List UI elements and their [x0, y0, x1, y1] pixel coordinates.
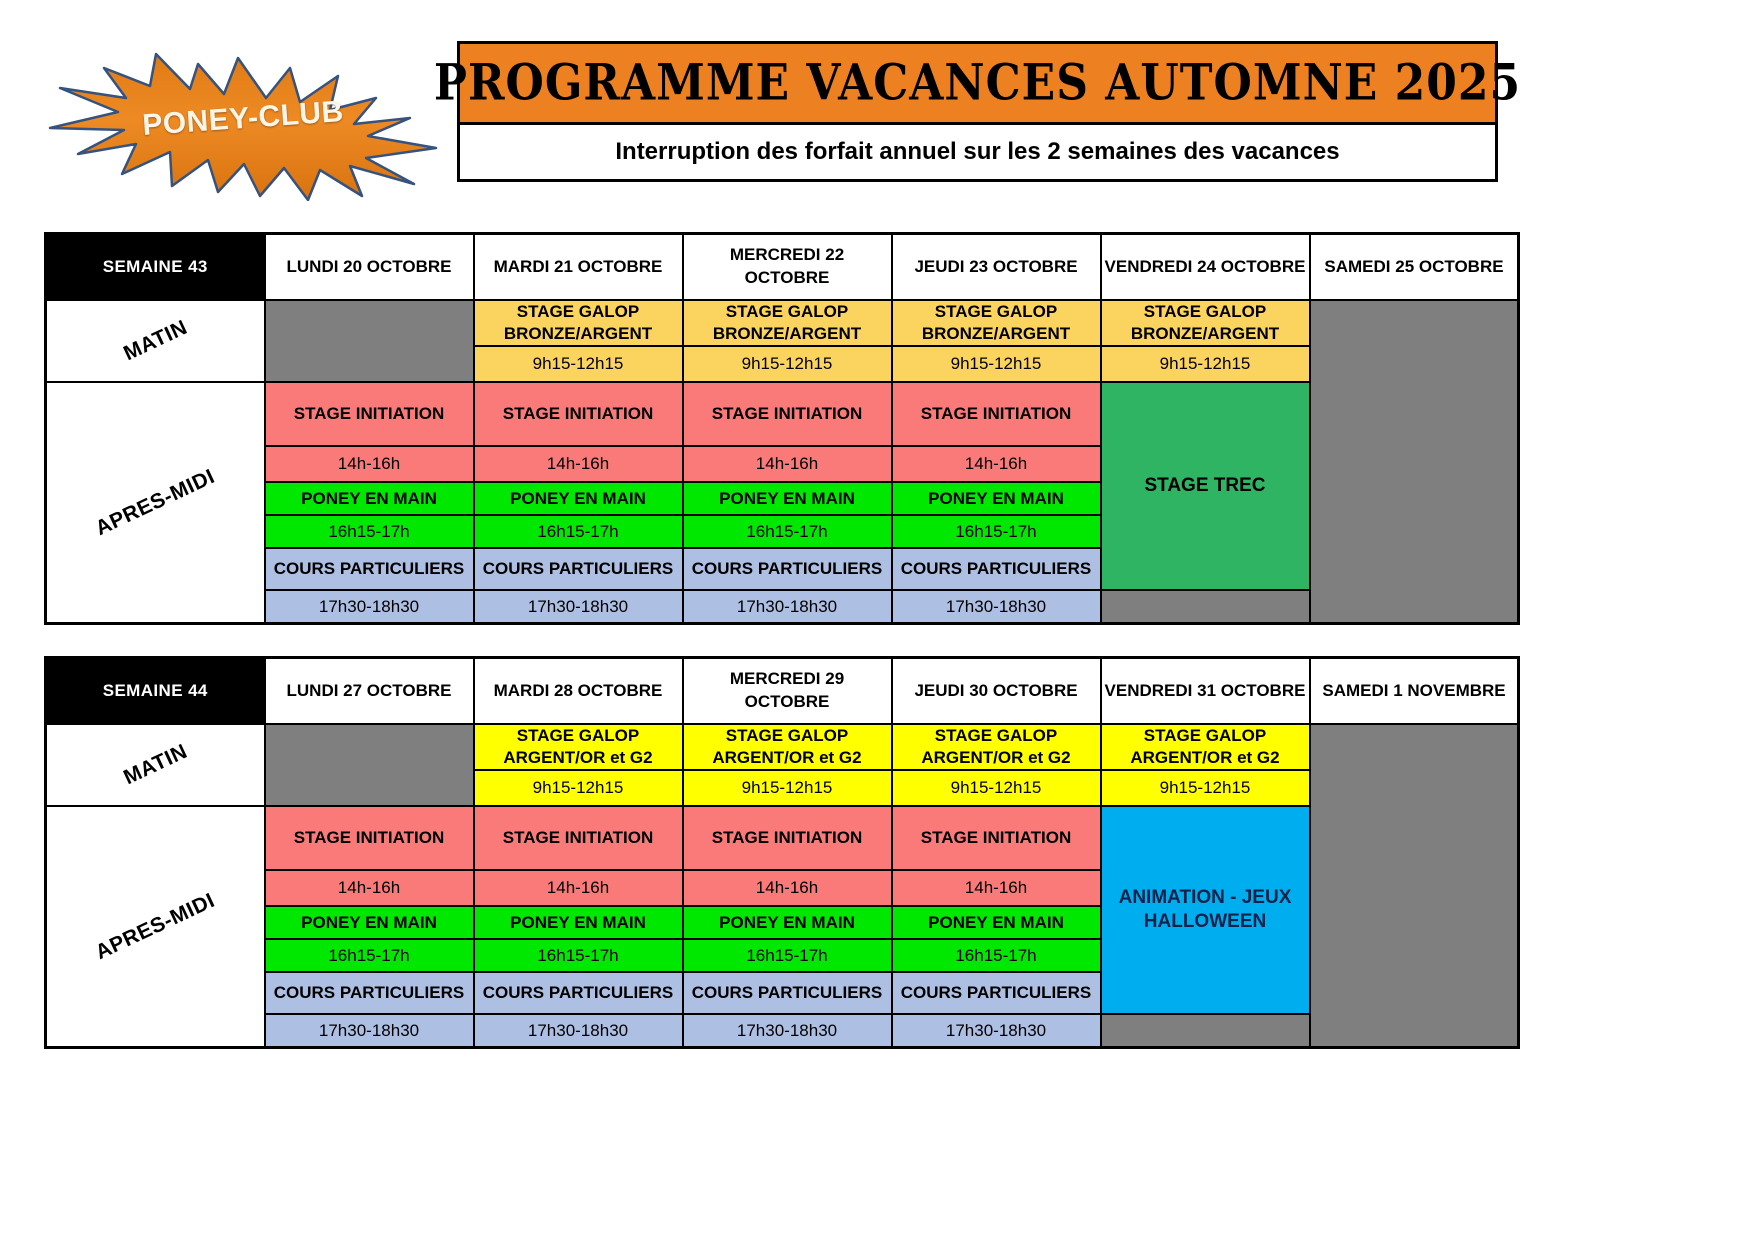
activity-time: 14h-16h — [547, 878, 609, 897]
cell-time-mercredi-matin: 9h15-12h15 — [683, 770, 892, 806]
activity-name-2: BRONZE/ARGENT — [477, 323, 680, 345]
day-header-samedi: SAMEDI 25 OCTOBRE — [1310, 234, 1519, 301]
cell-activity-vendredi-special: ANIMATION - JEUX HALLOWEEN — [1101, 806, 1310, 1014]
cell-empty-samedi — [1310, 300, 1519, 624]
day-header-samedi: SAMEDI 1 NOVEMBRE — [1310, 658, 1519, 725]
cell-activity-jeudi-init: STAGE INITIATION — [892, 806, 1101, 870]
activity-name-2: BRONZE/ARGENT — [1104, 323, 1307, 345]
table-row: MATIN STAGE GALOP BRONZE/ARGENT STAGE GA… — [46, 300, 1519, 346]
activity-time: 16h15-17h — [955, 946, 1036, 965]
activity-name-2: BRONZE/ARGENT — [895, 323, 1098, 345]
activity-time: 16h15-17h — [955, 522, 1036, 541]
cell-activity-jeudi-matin: STAGE GALOP ARGENT/OR et G2 — [892, 724, 1101, 770]
activity-time: 14h-16h — [965, 878, 1027, 897]
cell-activity-mardi-matin: STAGE GALOP BRONZE/ARGENT — [474, 300, 683, 346]
table-row: APRES-MIDI STAGE INITIATION STAGE INITIA… — [46, 806, 1519, 870]
activity-time: 16h15-17h — [537, 946, 618, 965]
cell-time-mercredi-cours: 17h30-18h30 — [683, 1014, 892, 1048]
cell-activity-mercredi-matin: STAGE GALOP BRONZE/ARGENT — [683, 300, 892, 346]
cell-time-jeudi-matin: 9h15-12h15 — [892, 770, 1101, 806]
cell-time-mercredi-matin: 9h15-12h15 — [683, 346, 892, 382]
activity-name: STAGE GALOP — [477, 301, 680, 323]
cell-time-mardi-matin: 9h15-12h15 — [474, 346, 683, 382]
cell-time-jeudi-poney: 16h15-17h — [892, 515, 1101, 548]
cell-time-mardi-init: 14h-16h — [474, 870, 683, 906]
activity-time: 9h15-12h15 — [533, 354, 624, 373]
title-bar: PROGRAMME VACANCES AUTOMNE 2025 — [460, 44, 1495, 125]
activity-name: STAGE INITIATION — [921, 828, 1071, 847]
activity-time: 17h30-18h30 — [319, 1021, 419, 1040]
period-label-matin: MATIN — [46, 724, 265, 806]
page-title: PROGRAMME VACANCES AUTOMNE 2025 — [434, 54, 1521, 111]
activity-name: COURS PARTICULIERS — [483, 559, 673, 578]
cell-activity-jeudi-poney: PONEY EN MAIN — [892, 906, 1101, 939]
cell-empty-lundi-matin — [265, 300, 474, 382]
title-block: PROGRAMME VACANCES AUTOMNE 2025 Interrup… — [457, 41, 1498, 182]
activity-name: COURS PARTICULIERS — [901, 559, 1091, 578]
activity-time: 9h15-12h15 — [1160, 778, 1251, 797]
cell-activity-mardi-matin: STAGE GALOP ARGENT/OR et G2 — [474, 724, 683, 770]
activity-time: 9h15-12h15 — [951, 354, 1042, 373]
cell-activity-lundi-poney: PONEY EN MAIN — [265, 906, 474, 939]
period-label-apres-midi: APRES-MIDI — [46, 382, 265, 624]
activity-time: 9h15-12h15 — [742, 354, 833, 373]
cell-time-jeudi-init: 14h-16h — [892, 870, 1101, 906]
activity-time: 9h15-12h15 — [1160, 354, 1251, 373]
period-label-apres-midi: APRES-MIDI — [46, 806, 265, 1048]
cell-time-mardi-cours: 17h30-18h30 — [474, 1014, 683, 1048]
activity-time: 17h30-18h30 — [737, 597, 837, 616]
cell-time-lundi-init: 14h-16h — [265, 446, 474, 482]
cell-activity-jeudi-cours: COURS PARTICULIERS — [892, 548, 1101, 590]
period-label-matin: MATIN — [46, 300, 265, 382]
period-label-matin-text: MATIN — [120, 316, 191, 366]
activity-name-2: ARGENT/OR et G2 — [1104, 747, 1307, 769]
day-header-vendredi: VENDREDI 24 OCTOBRE — [1101, 234, 1310, 301]
cell-time-mardi-matin: 9h15-12h15 — [474, 770, 683, 806]
cell-activity-mardi-cours: COURS PARTICULIERS — [474, 548, 683, 590]
cell-time-jeudi-cours: 17h30-18h30 — [892, 1014, 1101, 1048]
cell-activity-jeudi-init: STAGE INITIATION — [892, 382, 1101, 446]
activity-name: COURS PARTICULIERS — [274, 983, 464, 1002]
day-header-vendredi: VENDREDI 31 OCTOBRE — [1101, 658, 1310, 725]
starburst-badge-icon — [38, 36, 448, 201]
activity-time: 9h15-12h15 — [533, 778, 624, 797]
cell-activity-lundi-init: STAGE INITIATION — [265, 806, 474, 870]
cell-activity-lundi-cours: COURS PARTICULIERS — [265, 972, 474, 1014]
activity-name: PONEY EN MAIN — [928, 913, 1064, 932]
activity-name: PONEY EN MAIN — [301, 489, 437, 508]
table-row: APRES-MIDI STAGE INITIATION STAGE INITIA… — [46, 382, 1519, 446]
activity-name: STAGE GALOP — [686, 725, 889, 747]
cell-activity-mardi-init: STAGE INITIATION — [474, 806, 683, 870]
table-row: SEMAINE 43 LUNDI 20 OCTOBRE MARDI 21 OCT… — [46, 234, 1519, 301]
activity-name: COURS PARTICULIERS — [274, 559, 464, 578]
activity-name-2: ARGENT/OR et G2 — [686, 747, 889, 769]
activity-name: STAGE INITIATION — [294, 828, 444, 847]
activity-name: COURS PARTICULIERS — [483, 983, 673, 1002]
special-activity-name-2: HALLOWEEN — [1104, 910, 1307, 935]
cell-activity-jeudi-poney: PONEY EN MAIN — [892, 482, 1101, 515]
special-activity-name: ANIMATION - JEUX — [1104, 886, 1307, 911]
activity-name: STAGE INITIATION — [712, 828, 862, 847]
table-row: MATIN STAGE GALOP ARGENT/OR et G2 STAGE … — [46, 724, 1519, 770]
table-row: 17h30-18h30 17h30-18h30 17h30-18h30 17h3… — [46, 590, 1519, 624]
activity-name: STAGE GALOP — [895, 301, 1098, 323]
table-row: SEMAINE 44 LUNDI 27 OCTOBRE MARDI 28 OCT… — [46, 658, 1519, 725]
poney-club-logo: PONEY-CLUB — [38, 36, 448, 201]
cell-activity-mardi-poney: PONEY EN MAIN — [474, 482, 683, 515]
activity-name: PONEY EN MAIN — [510, 489, 646, 508]
activity-time: 17h30-18h30 — [946, 1021, 1046, 1040]
cell-activity-jeudi-cours: COURS PARTICULIERS — [892, 972, 1101, 1014]
activity-name: COURS PARTICULIERS — [692, 559, 882, 578]
page-subtitle: Interruption des forfait annuel sur les … — [615, 138, 1339, 166]
activity-time: 14h-16h — [547, 454, 609, 473]
cell-empty-vendredi-bottom — [1101, 1014, 1310, 1048]
cell-activity-mercredi-init: STAGE INITIATION — [683, 806, 892, 870]
day-header-mercredi: MERCREDI 29 OCTOBRE — [683, 658, 892, 725]
schedule-table-week-44: SEMAINE 44 LUNDI 27 OCTOBRE MARDI 28 OCT… — [44, 656, 1520, 1049]
cell-activity-vendredi-matin: STAGE GALOP ARGENT/OR et G2 — [1101, 724, 1310, 770]
activity-time: 14h-16h — [756, 878, 818, 897]
activity-time: 16h15-17h — [746, 522, 827, 541]
activity-time: 14h-16h — [338, 878, 400, 897]
activity-name: STAGE INITIATION — [503, 828, 653, 847]
cell-time-mercredi-poney: 16h15-17h — [683, 939, 892, 972]
cell-activity-lundi-poney: PONEY EN MAIN — [265, 482, 474, 515]
cell-activity-mercredi-cours: COURS PARTICULIERS — [683, 548, 892, 590]
cell-activity-jeudi-matin: STAGE GALOP BRONZE/ARGENT — [892, 300, 1101, 346]
special-activity-name: STAGE TREC — [1144, 475, 1265, 496]
cell-activity-mercredi-poney: PONEY EN MAIN — [683, 482, 892, 515]
cell-time-mardi-poney: 16h15-17h — [474, 515, 683, 548]
activity-name-2: ARGENT/OR et G2 — [895, 747, 1098, 769]
activity-time: 16h15-17h — [746, 946, 827, 965]
cell-empty-samedi — [1310, 724, 1519, 1048]
activity-time: 17h30-18h30 — [319, 597, 419, 616]
activity-name: PONEY EN MAIN — [719, 913, 855, 932]
cell-time-lundi-poney: 16h15-17h — [265, 939, 474, 972]
cell-activity-mercredi-init: STAGE INITIATION — [683, 382, 892, 446]
activity-time: 16h15-17h — [537, 522, 618, 541]
cell-time-mercredi-poney: 16h15-17h — [683, 515, 892, 548]
activity-time: 17h30-18h30 — [528, 1021, 628, 1040]
activity-time: 17h30-18h30 — [946, 597, 1046, 616]
period-label-apres-midi-text: APRES-MIDI — [92, 465, 219, 541]
cell-time-mercredi-cours: 17h30-18h30 — [683, 590, 892, 624]
day-header-mardi: MARDI 21 OCTOBRE — [474, 234, 683, 301]
day-header-mercredi: MERCREDI 22 OCTOBRE — [683, 234, 892, 301]
cell-time-lundi-cours: 17h30-18h30 — [265, 590, 474, 624]
activity-name: COURS PARTICULIERS — [901, 983, 1091, 1002]
activity-name: PONEY EN MAIN — [301, 913, 437, 932]
activity-name: PONEY EN MAIN — [510, 913, 646, 932]
day-header-jeudi: JEUDI 30 OCTOBRE — [892, 658, 1101, 725]
cell-activity-mardi-cours: COURS PARTICULIERS — [474, 972, 683, 1014]
activity-time: 17h30-18h30 — [737, 1021, 837, 1040]
activity-name: STAGE INITIATION — [294, 404, 444, 423]
activity-name-2: BRONZE/ARGENT — [686, 323, 889, 345]
cell-activity-vendredi-matin: STAGE GALOP BRONZE/ARGENT — [1101, 300, 1310, 346]
day-header-lundi: LUNDI 27 OCTOBRE — [265, 658, 474, 725]
activity-time: 16h15-17h — [328, 522, 409, 541]
week-label: SEMAINE 43 — [46, 234, 265, 301]
cell-activity-mercredi-cours: COURS PARTICULIERS — [683, 972, 892, 1014]
cell-activity-lundi-init: STAGE INITIATION — [265, 382, 474, 446]
period-label-matin-text: MATIN — [120, 740, 191, 790]
cell-empty-vendredi-bottom — [1101, 590, 1310, 624]
table-row: 17h30-18h30 17h30-18h30 17h30-18h30 17h3… — [46, 1014, 1519, 1048]
activity-time: 14h-16h — [756, 454, 818, 473]
cell-time-mardi-cours: 17h30-18h30 — [474, 590, 683, 624]
cell-time-lundi-cours: 17h30-18h30 — [265, 1014, 474, 1048]
cell-time-mercredi-init: 14h-16h — [683, 446, 892, 482]
cell-activity-mercredi-matin: STAGE GALOP ARGENT/OR et G2 — [683, 724, 892, 770]
cell-time-mardi-init: 14h-16h — [474, 446, 683, 482]
activity-time: 17h30-18h30 — [528, 597, 628, 616]
activity-name: STAGE GALOP — [1104, 301, 1307, 323]
activity-name: STAGE GALOP — [686, 301, 889, 323]
cell-activity-mardi-init: STAGE INITIATION — [474, 382, 683, 446]
cell-activity-lundi-cours: COURS PARTICULIERS — [265, 548, 474, 590]
activity-time: 14h-16h — [965, 454, 1027, 473]
activity-name: STAGE INITIATION — [503, 404, 653, 423]
period-label-apres-midi-text: APRES-MIDI — [92, 889, 219, 965]
week-label: SEMAINE 44 — [46, 658, 265, 725]
activity-name: PONEY EN MAIN — [719, 489, 855, 508]
cell-time-jeudi-init: 14h-16h — [892, 446, 1101, 482]
activity-time: 9h15-12h15 — [742, 778, 833, 797]
cell-time-jeudi-matin: 9h15-12h15 — [892, 346, 1101, 382]
cell-time-jeudi-cours: 17h30-18h30 — [892, 590, 1101, 624]
activity-name-2: ARGENT/OR et G2 — [477, 747, 680, 769]
cell-empty-lundi-matin — [265, 724, 474, 806]
activity-name: COURS PARTICULIERS — [692, 983, 882, 1002]
activity-name: STAGE INITIATION — [712, 404, 862, 423]
day-header-lundi: LUNDI 20 OCTOBRE — [265, 234, 474, 301]
day-header-jeudi: JEUDI 23 OCTOBRE — [892, 234, 1101, 301]
day-header-mardi: MARDI 28 OCTOBRE — [474, 658, 683, 725]
cell-time-jeudi-poney: 16h15-17h — [892, 939, 1101, 972]
cell-activity-mercredi-poney: PONEY EN MAIN — [683, 906, 892, 939]
cell-activity-mardi-poney: PONEY EN MAIN — [474, 906, 683, 939]
activity-name: STAGE GALOP — [1104, 725, 1307, 747]
cell-time-vendredi-matin: 9h15-12h15 — [1101, 346, 1310, 382]
cell-time-mercredi-init: 14h-16h — [683, 870, 892, 906]
activity-time: 16h15-17h — [328, 946, 409, 965]
subtitle-bar: Interruption des forfait annuel sur les … — [460, 125, 1495, 179]
activity-time: 9h15-12h15 — [951, 778, 1042, 797]
activity-name: PONEY EN MAIN — [928, 489, 1064, 508]
schedule-table-week-43: SEMAINE 43 LUNDI 20 OCTOBRE MARDI 21 OCT… — [44, 232, 1520, 625]
cell-time-lundi-poney: 16h15-17h — [265, 515, 474, 548]
cell-time-vendredi-matin: 9h15-12h15 — [1101, 770, 1310, 806]
page-header: PONEY-CLUB PROGRAMME VACANCES AUTOMNE 20… — [0, 0, 1755, 215]
cell-time-lundi-init: 14h-16h — [265, 870, 474, 906]
activity-name: STAGE GALOP — [477, 725, 680, 747]
cell-activity-vendredi-special: STAGE TREC — [1101, 382, 1310, 590]
activity-time: 14h-16h — [338, 454, 400, 473]
cell-time-mardi-poney: 16h15-17h — [474, 939, 683, 972]
activity-name: STAGE GALOP — [895, 725, 1098, 747]
activity-name: STAGE INITIATION — [921, 404, 1071, 423]
